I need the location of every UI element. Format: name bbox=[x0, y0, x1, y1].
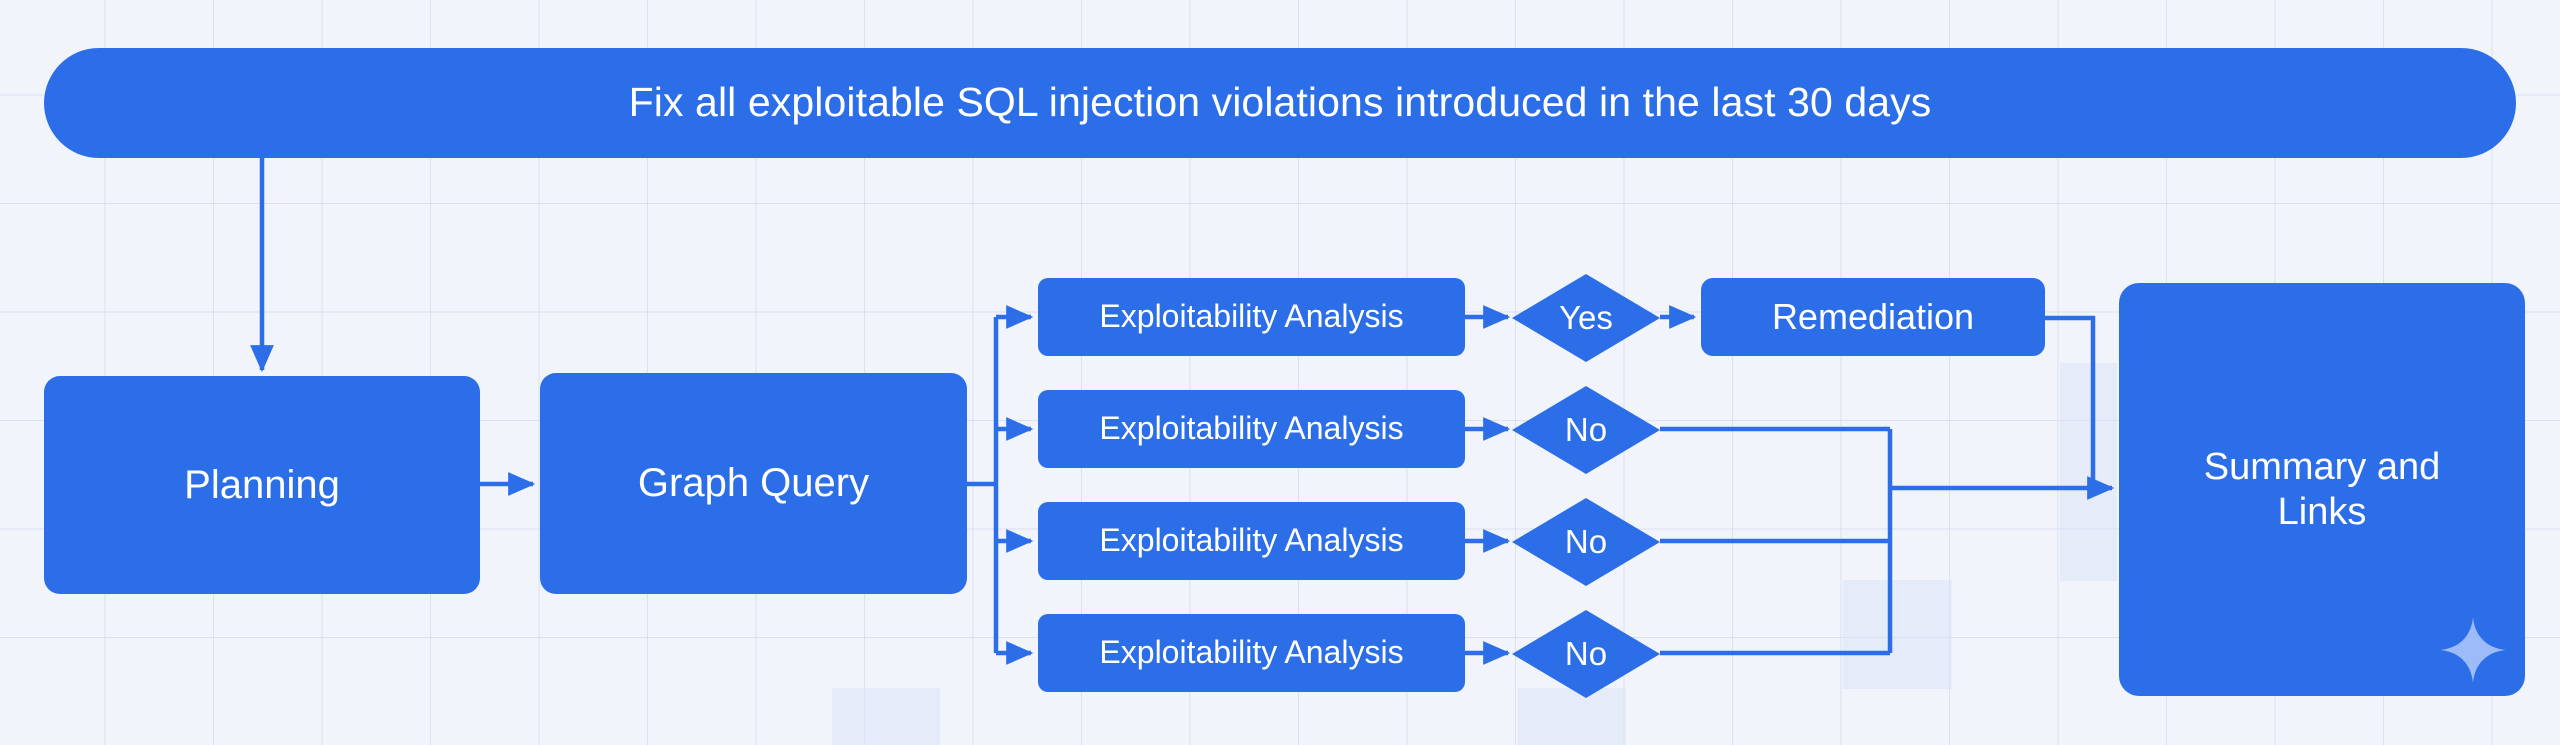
node-remediation-label: Remediation bbox=[1772, 296, 1974, 338]
node-exploitability-analysis-4-label: Exploitability Analysis bbox=[1099, 634, 1403, 671]
node-graph-query-label: Graph Query bbox=[638, 460, 869, 506]
edge-remediation-to-summary bbox=[2045, 318, 2093, 488]
decision-node-4[interactable]: No bbox=[1512, 610, 1660, 698]
node-exploitability-analysis-3[interactable]: Exploitability Analysis bbox=[1038, 502, 1465, 580]
node-summary-and-links-label-line-2: Links bbox=[2278, 490, 2367, 534]
decision-node-3[interactable]: No bbox=[1512, 498, 1660, 586]
node-exploitability-analysis-2-label: Exploitability Analysis bbox=[1099, 410, 1403, 447]
decision-node-1-label: Yes bbox=[1512, 274, 1660, 362]
flowchart-canvas[interactable]: Fix all exploitable SQL injection violat… bbox=[0, 0, 2560, 745]
node-exploitability-analysis-2[interactable]: Exploitability Analysis bbox=[1038, 390, 1465, 468]
node-exploitability-analysis-3-label: Exploitability Analysis bbox=[1099, 522, 1403, 559]
sparkle-icon bbox=[2439, 616, 2507, 684]
node-planning[interactable]: Planning bbox=[44, 376, 480, 594]
goal-node-label: Fix all exploitable SQL injection violat… bbox=[629, 79, 1932, 127]
node-exploitability-analysis-1-label: Exploitability Analysis bbox=[1099, 298, 1403, 335]
decision-node-2[interactable]: No bbox=[1512, 386, 1660, 474]
node-exploitability-analysis-1[interactable]: Exploitability Analysis bbox=[1038, 278, 1465, 356]
decision-node-3-label: No bbox=[1512, 498, 1660, 586]
node-summary-and-links-label-line-1: Summary and bbox=[2204, 445, 2441, 489]
node-remediation[interactable]: Remediation bbox=[1701, 278, 2045, 356]
node-graph-query[interactable]: Graph Query bbox=[540, 373, 967, 594]
node-exploitability-analysis-4[interactable]: Exploitability Analysis bbox=[1038, 614, 1465, 692]
decision-node-1[interactable]: Yes bbox=[1512, 274, 1660, 362]
node-summary-and-links[interactable]: Summary and Links bbox=[2119, 283, 2525, 696]
decision-node-2-label: No bbox=[1512, 386, 1660, 474]
node-planning-label: Planning bbox=[184, 462, 340, 508]
goal-node[interactable]: Fix all exploitable SQL injection violat… bbox=[44, 48, 2516, 158]
decision-node-4-label: No bbox=[1512, 610, 1660, 698]
